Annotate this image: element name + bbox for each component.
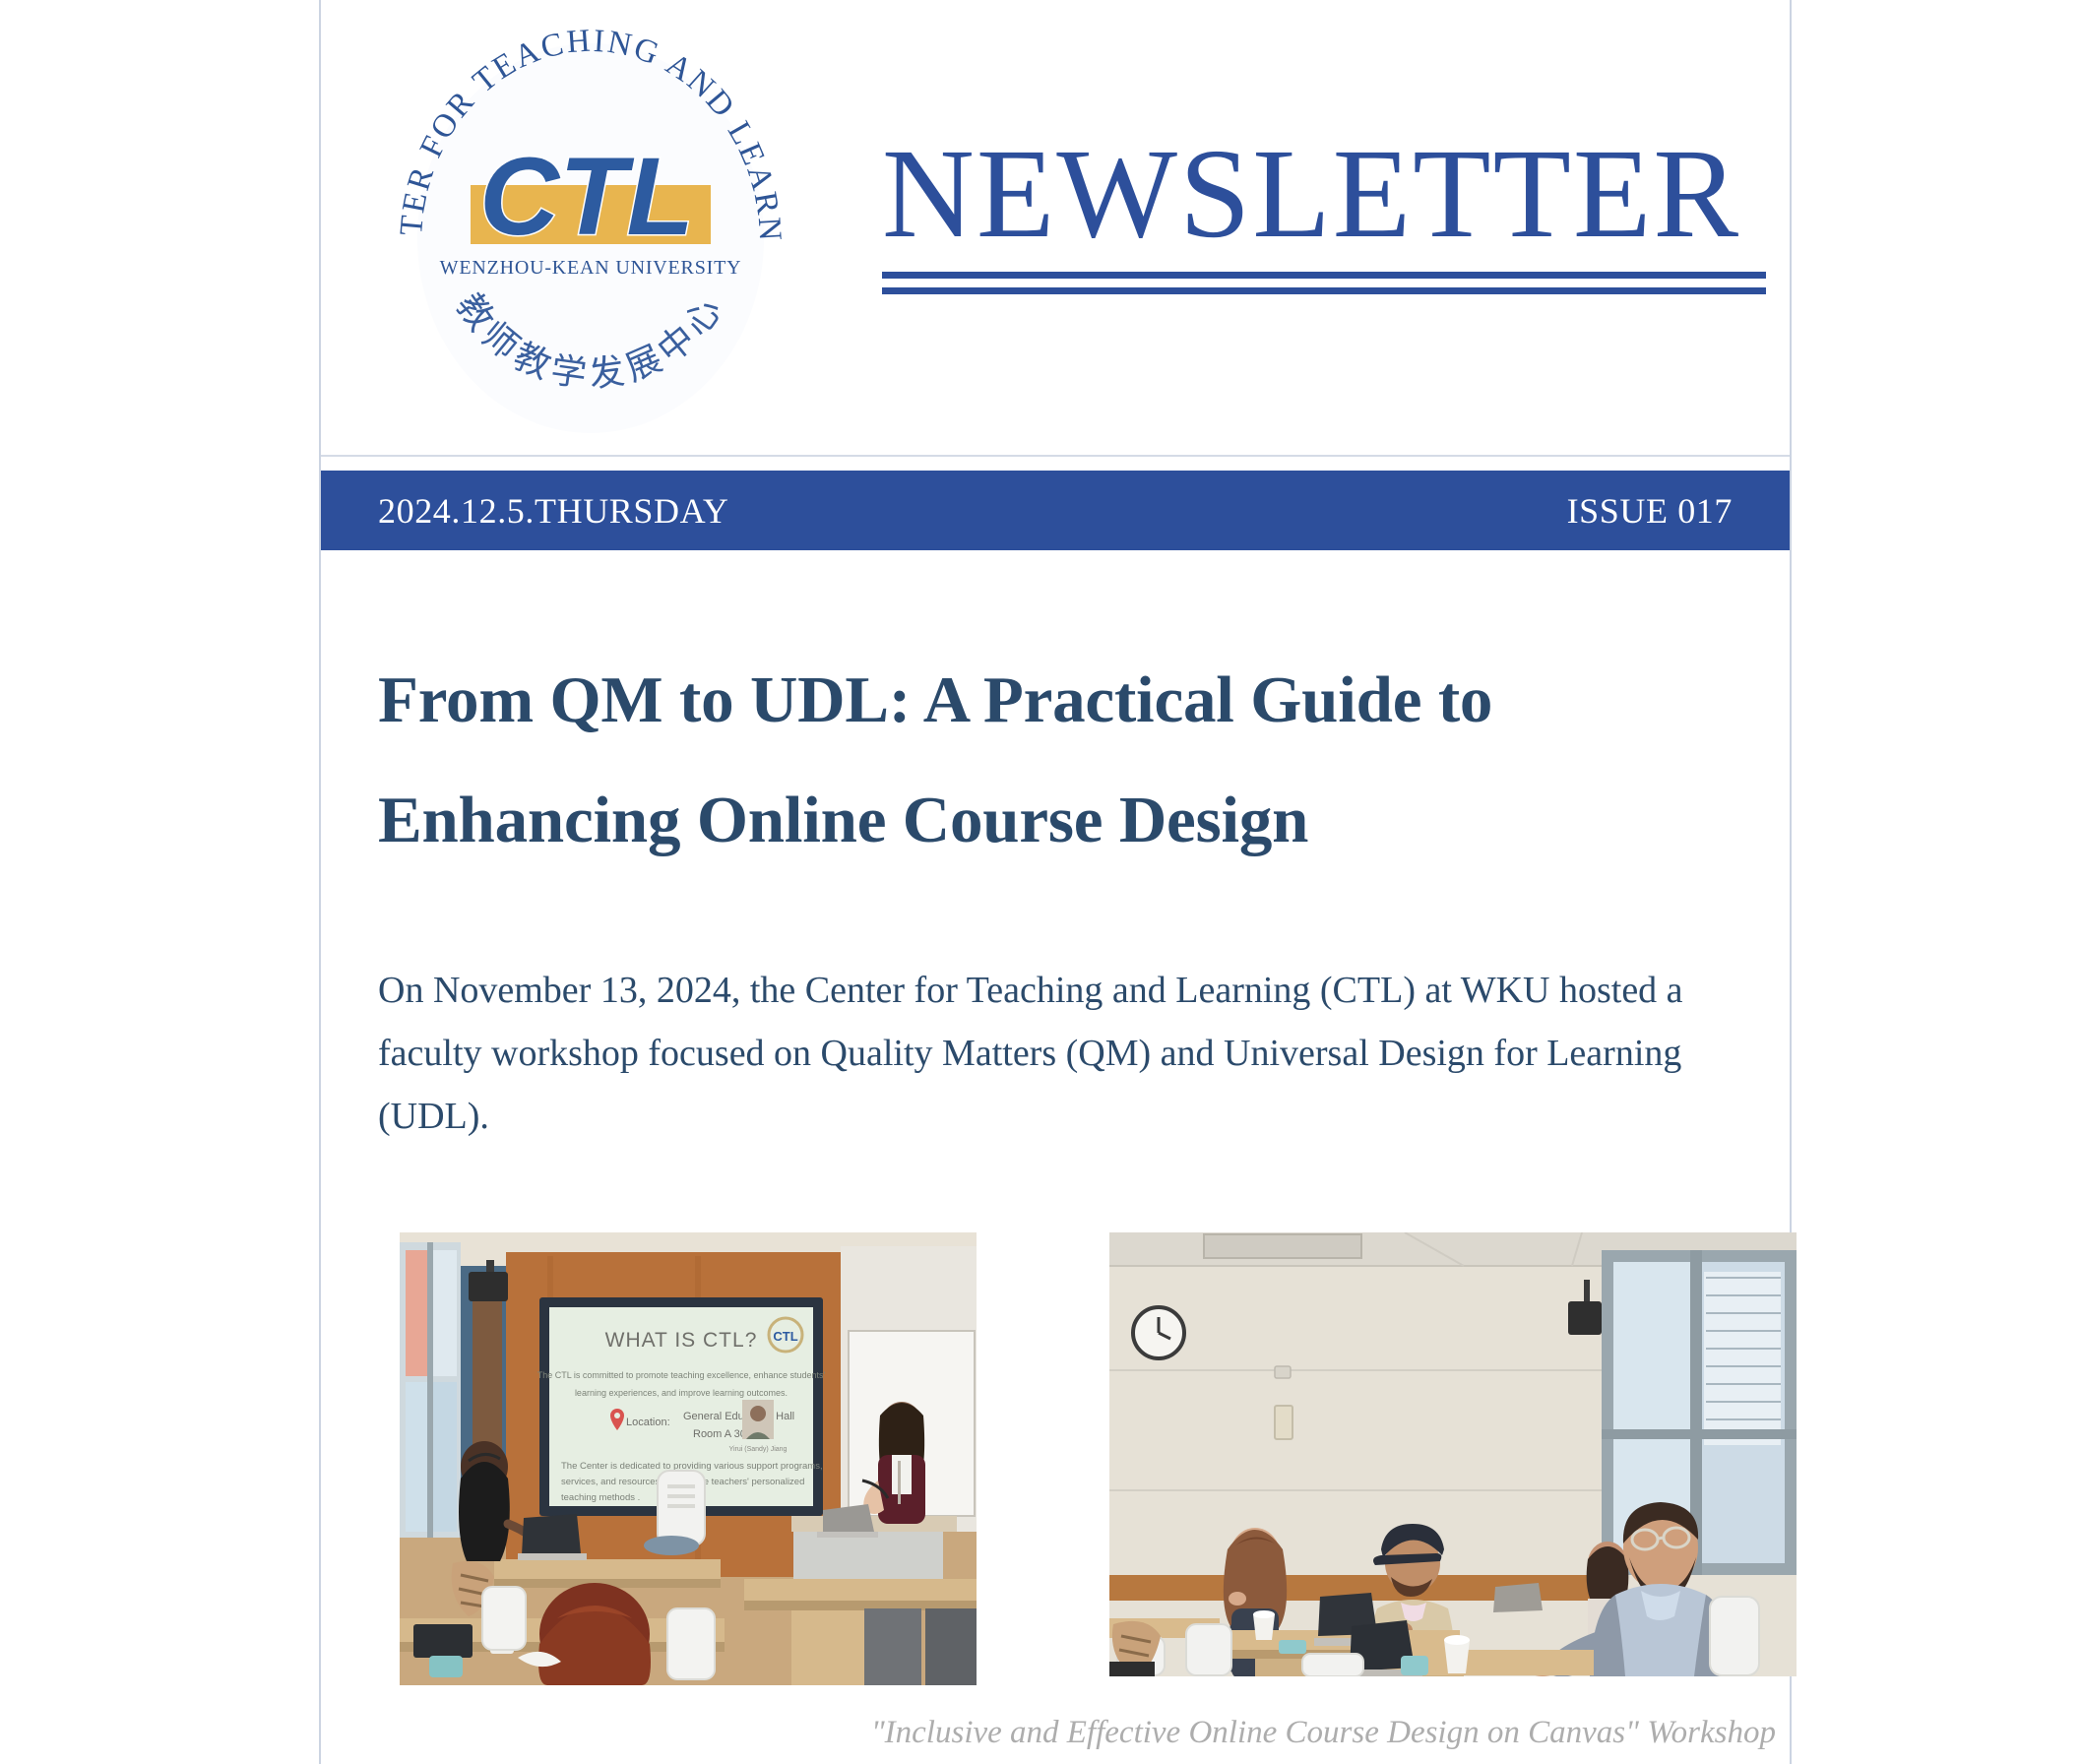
logo-acronym: CTL	[479, 135, 694, 258]
issue-bar: 2024.12.5.THURSDAY ISSUE 017	[321, 471, 1790, 550]
logo-university-text: WENZHOU-KEAN UNIVERSITY	[440, 257, 742, 279]
svg-text:learning experiences, and impr: learning experiences, and improve learni…	[575, 1388, 788, 1398]
photo-row: CTL WHAT IS CTL? The CTL is committed to…	[321, 1232, 1790, 1695]
photo-presentation: CTL WHAT IS CTL? The CTL is committed to…	[400, 1232, 977, 1685]
article-lede: On November 13, 2024, the Center for Tea…	[321, 881, 1790, 1148]
svg-text:CTL: CTL	[773, 1329, 797, 1344]
ctl-logo-seal: CENTER FOR TEACHING AND LEARNING CTL WEN…	[384, 10, 797, 433]
article: From QM to UDL: A Practical Guide to Enh…	[321, 550, 1790, 1148]
newsletter-wordmark-block: NEWSLETTER	[882, 130, 1768, 294]
photo-attendees	[1109, 1232, 1797, 1676]
svg-text:Location:: Location:	[626, 1417, 670, 1428]
svg-text:WHAT IS CTL?: WHAT IS CTL?	[605, 1329, 758, 1352]
svg-text:Yirui (Sandy) Jiang: Yirui (Sandy) Jiang	[729, 1446, 788, 1453]
wordmark-rule-bottom	[882, 287, 1766, 294]
issue-date: 2024.12.5.THURSDAY	[378, 490, 729, 532]
svg-text:The CTL is committed to promot: The CTL is committed to promote teaching…	[537, 1370, 826, 1380]
wordmark-rule-top	[882, 272, 1766, 279]
photo-caption: "Inclusive and Effective Online Course D…	[321, 1715, 1790, 1751]
article-headline: From QM to UDL: A Practical Guide to Enh…	[321, 550, 1790, 881]
svg-text:General Education Hall: General Education Hall	[683, 1411, 794, 1422]
masthead: CENTER FOR TEACHING AND LEARNING CTL WEN…	[321, 0, 1790, 457]
newsletter-wordmark: NEWSLETTER	[882, 130, 1768, 258]
issue-number: ISSUE 017	[1567, 490, 1733, 532]
newsletter-page: CENTER FOR TEACHING AND LEARNING CTL WEN…	[0, 0, 2081, 1764]
page-sheet: CENTER FOR TEACHING AND LEARNING CTL WEN…	[319, 0, 1792, 1764]
svg-text:teaching methods .: teaching methods .	[561, 1492, 640, 1503]
